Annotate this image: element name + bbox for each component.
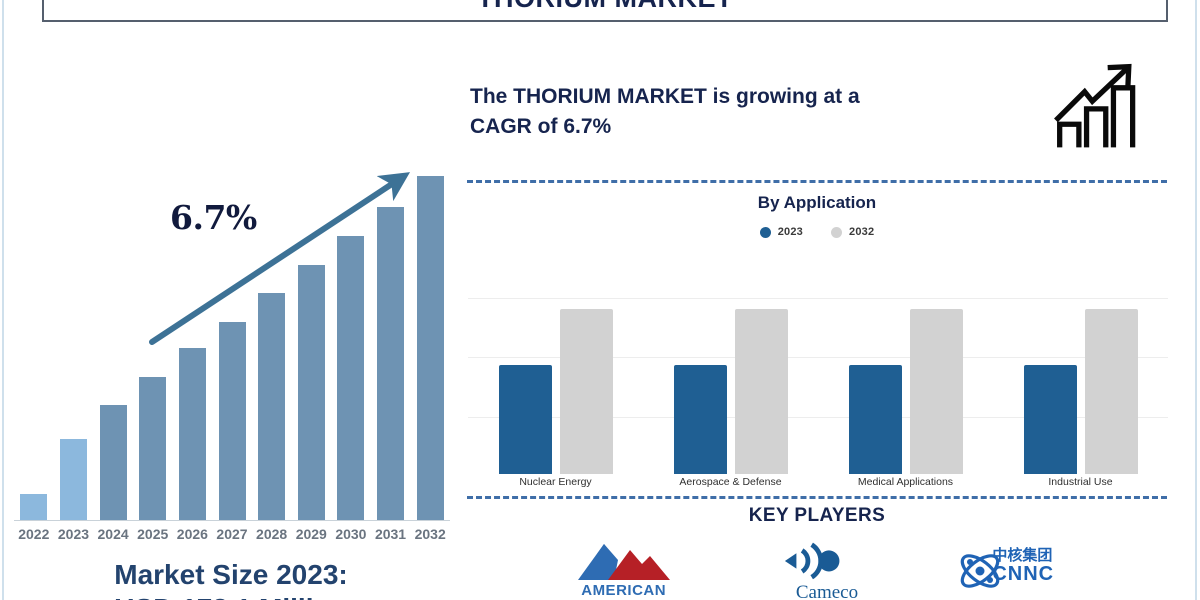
bar-2032 xyxy=(560,309,613,474)
divider-bottom xyxy=(467,496,1167,499)
cameco-soundwave-logo xyxy=(767,538,887,582)
bar-2032 xyxy=(1085,309,1138,474)
forecast-bar-2024 xyxy=(100,150,127,520)
american-wordmark: AMERICAN xyxy=(544,582,704,599)
bar xyxy=(179,348,206,520)
bar xyxy=(20,494,47,520)
by-application-bar-chart xyxy=(468,296,1168,474)
category-label: Industrial Use xyxy=(993,476,1168,488)
year-axis-labels: 2022202320242025202620272028202920302031… xyxy=(0,526,462,548)
cnnc-chinese-name: 中核集团 xyxy=(992,544,1110,565)
divider-top xyxy=(467,180,1167,183)
forecast-bar-2031 xyxy=(377,150,404,520)
forecast-bar-2027 xyxy=(219,150,246,520)
right-panel: The THORIUM MARKET is growing at a CAGR … xyxy=(462,0,1200,600)
forecast-bar-2030 xyxy=(337,150,364,520)
bar xyxy=(100,405,127,520)
legend-item-2032: 2032 xyxy=(831,226,874,238)
bar-2023 xyxy=(1024,365,1077,474)
market-size-line-1: Market Size 2023: xyxy=(0,558,462,592)
american-mountain-logo xyxy=(564,536,684,582)
bar-group-0 xyxy=(499,296,613,474)
chart-baseline xyxy=(14,520,450,521)
by-application-legend: 2023 2032 xyxy=(462,226,1172,238)
bar-2023 xyxy=(499,365,552,474)
legend-label-2023: 2023 xyxy=(778,226,803,238)
legend-item-2023: 2023 xyxy=(760,226,803,238)
cagr-statement-line-2: CAGR of 6.7% xyxy=(470,112,1030,142)
market-size-line-2: USD 172.1 Million xyxy=(0,592,462,600)
bar xyxy=(298,265,325,520)
bar xyxy=(139,377,166,520)
bar xyxy=(337,236,364,520)
forecast-bar-2028 xyxy=(258,150,285,520)
cameco-wordmark: Cameco xyxy=(747,582,907,600)
market-size-caption: Market Size 2023: USD 172.1 Million xyxy=(0,558,462,600)
bar-2032 xyxy=(910,309,963,474)
cnnc-wordmark: CNNC xyxy=(992,563,1110,586)
cagr-statement: The THORIUM MARKET is growing at a CAGR … xyxy=(470,82,1030,142)
left-panel: 6.7% 20222023202420252026202720282029203… xyxy=(0,30,462,600)
forecast-bar-2022 xyxy=(20,150,47,520)
bar-2023 xyxy=(674,365,727,474)
category-label: Medical Applications xyxy=(818,476,993,488)
forecast-bar-2023 xyxy=(60,150,87,520)
category-label: Nuclear Energy xyxy=(468,476,643,488)
bar-group-2 xyxy=(849,296,963,474)
logo-american: AMERICAN xyxy=(544,536,704,600)
bar xyxy=(60,439,87,520)
infographic-page: THORIUM MARKET 6.7% 20222023202420252026… xyxy=(0,0,1200,600)
key-players-logos: AMERICAN Cameco xyxy=(522,536,1132,600)
bar xyxy=(417,176,444,520)
year-label-2032: 2032 xyxy=(407,526,453,542)
forecast-bar-2032 xyxy=(417,150,444,520)
by-application-title: By Application xyxy=(462,193,1172,213)
bar xyxy=(377,207,404,520)
forecast-bar-2025 xyxy=(139,150,166,520)
growth-bar-arrow-icon xyxy=(1052,57,1148,157)
key-players-title: KEY PLAYERS xyxy=(462,505,1172,527)
legend-label-2032: 2032 xyxy=(849,226,874,238)
logo-cameco: Cameco xyxy=(747,536,907,600)
legend-dot-2032 xyxy=(831,227,842,238)
by-application-category-labels: Nuclear EnergyAerospace & DefenseMedical… xyxy=(468,476,1168,494)
bar-2023 xyxy=(849,365,902,474)
cagr-statement-line-1: The THORIUM MARKET is growing at a xyxy=(470,82,1030,112)
bar-group-3 xyxy=(1024,296,1138,474)
logo-cnnc: 中核集团 CNNC xyxy=(950,536,1110,600)
forecast-bar-2029 xyxy=(298,150,325,520)
bar xyxy=(258,293,285,520)
market-size-bar-chart xyxy=(14,150,450,520)
legend-dot-2023 xyxy=(760,227,771,238)
bar-2032 xyxy=(735,309,788,474)
category-label: Aerospace & Defense xyxy=(643,476,818,488)
forecast-bar-2026 xyxy=(179,150,206,520)
bar-group-1 xyxy=(674,296,788,474)
bar xyxy=(219,322,246,520)
